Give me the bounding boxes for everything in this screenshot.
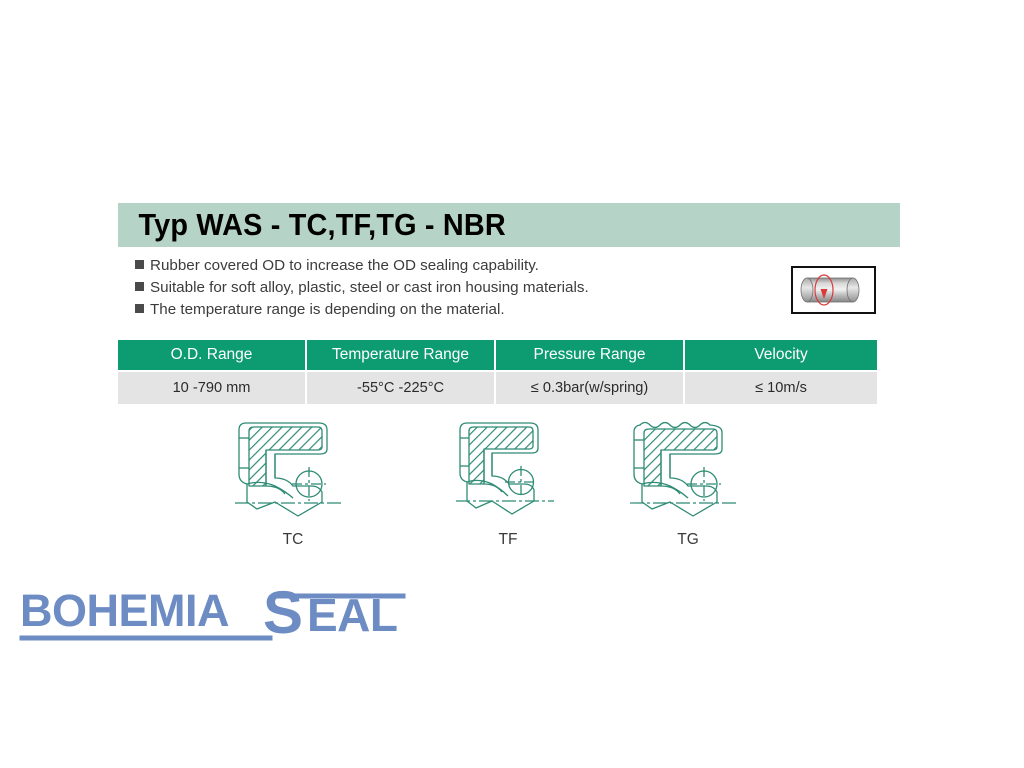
seal-diagram-group: TC (118, 416, 878, 556)
square-bullet-icon (135, 282, 144, 291)
column-header-od-range: O.D. Range (118, 340, 305, 370)
logo: BOHEMIA S EAL (18, 583, 418, 645)
table-row: 10 -790 mm -55°C -225°C ≤ 0.3bar(w/sprin… (118, 372, 877, 404)
column-header-velocity: Velocity (685, 340, 877, 370)
seal-diagram-tc: TC (213, 416, 373, 549)
column-header-pressure-range: Pressure Range (496, 340, 683, 370)
seal-cross-section-tc-graphic (223, 416, 363, 524)
square-bullet-icon (135, 260, 144, 269)
seal-diagram-tg: TG (608, 416, 768, 549)
cell-pressure-range: ≤ 0.3bar(w/spring) (496, 372, 683, 404)
seal-label-tf: TF (428, 531, 588, 549)
seal-label-tc: TC (213, 531, 373, 549)
feature-list: Rubber covered OD to increase the OD sea… (135, 256, 755, 322)
rotating-shaft-graphic (793, 268, 874, 312)
seal-label-tg: TG (608, 531, 768, 549)
seal-diagram-tf: TF (428, 416, 588, 549)
bohemia-seal-logo-graphic: BOHEMIA S EAL (18, 583, 418, 645)
feature-text: The temperature range is depending on th… (150, 300, 505, 319)
cell-velocity: ≤ 10m/s (685, 372, 877, 404)
title-banner: Typ WAS - TC,TF,TG - NBR (118, 203, 900, 247)
logo-text-bohemia: BOHEMIA (20, 585, 229, 636)
list-item: Suitable for soft alloy, plastic, steel … (135, 278, 755, 297)
page-title: Typ WAS - TC,TF,TG - NBR (118, 207, 506, 243)
column-header-temperature-range: Temperature Range (307, 340, 494, 370)
list-item: The temperature range is depending on th… (135, 300, 755, 319)
feature-text: Rubber covered OD to increase the OD sea… (150, 256, 539, 275)
rotating-shaft-icon (791, 266, 876, 314)
seal-cross-section-tg-graphic (618, 416, 758, 524)
specification-table: O.D. Range Temperature Range Pressure Ra… (118, 340, 877, 404)
cell-temperature-range: -55°C -225°C (307, 372, 494, 404)
seal-cross-section-tf-graphic (438, 416, 578, 524)
square-bullet-icon (135, 304, 144, 313)
feature-text: Suitable for soft alloy, plastic, steel … (150, 278, 589, 297)
list-item: Rubber covered OD to increase the OD sea… (135, 256, 755, 275)
table-header-row: O.D. Range Temperature Range Pressure Ra… (118, 340, 877, 370)
cell-od-range: 10 -790 mm (118, 372, 305, 404)
